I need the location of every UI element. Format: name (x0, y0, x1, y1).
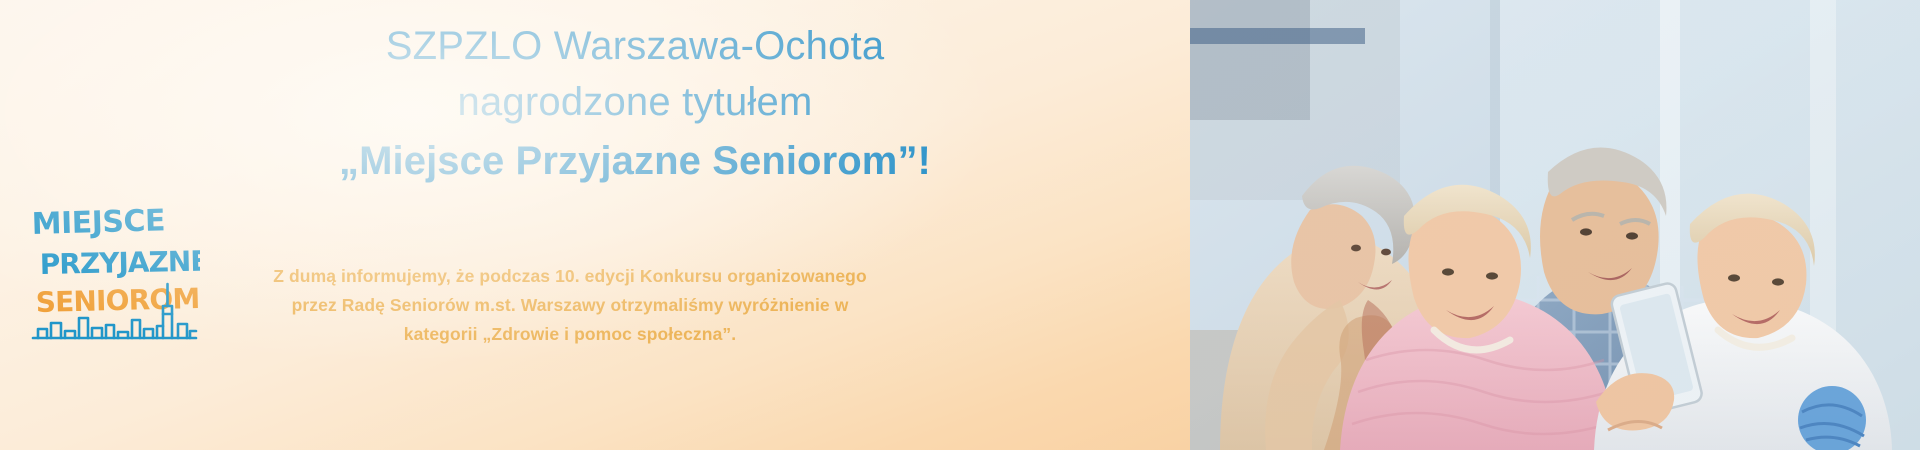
headline-line-2: nagrodzone tytułem (80, 74, 1190, 130)
description-line-1: Z dumą informujemy, że podczas 10. edycj… (240, 262, 900, 291)
headline-line-3-award-title: „Miejsce Przyjazne Seniorom”! (80, 132, 1190, 190)
text-panel: SZPZLO Warszawa-Ochota nagrodzone tytułe… (0, 0, 1190, 450)
description-line-3: kategorii „Zdrowie i pomoc społeczna”. (240, 320, 900, 349)
description-paragraph: Z dumą informujemy, że podczas 10. edycj… (240, 262, 900, 349)
logo-graphic: MIEJSCE PRZYJAZNE SENIOROM (30, 198, 200, 346)
seniors-photo (1190, 0, 1920, 450)
logo-word-seniorom: SENIOROM (35, 282, 200, 319)
logo-word-miejsce: MIEJSCE (31, 203, 165, 242)
description-line-2: przez Radę Seniorów m.st. Warszawy otrzy… (240, 291, 900, 320)
miejsce-przyjazne-seniorom-logo: MIEJSCE PRZYJAZNE SENIOROM (30, 198, 200, 346)
headline-block: SZPZLO Warszawa-Ochota nagrodzone tytułe… (0, 18, 1190, 190)
headline-line-1: SZPZLO Warszawa-Ochota (80, 18, 1190, 74)
promo-banner: SZPZLO Warszawa-Ochota nagrodzone tytułe… (0, 0, 1920, 450)
seniors-photo-graphic (1190, 0, 1920, 450)
logo-word-przyjazne: PRZYJAZNE (39, 244, 200, 281)
